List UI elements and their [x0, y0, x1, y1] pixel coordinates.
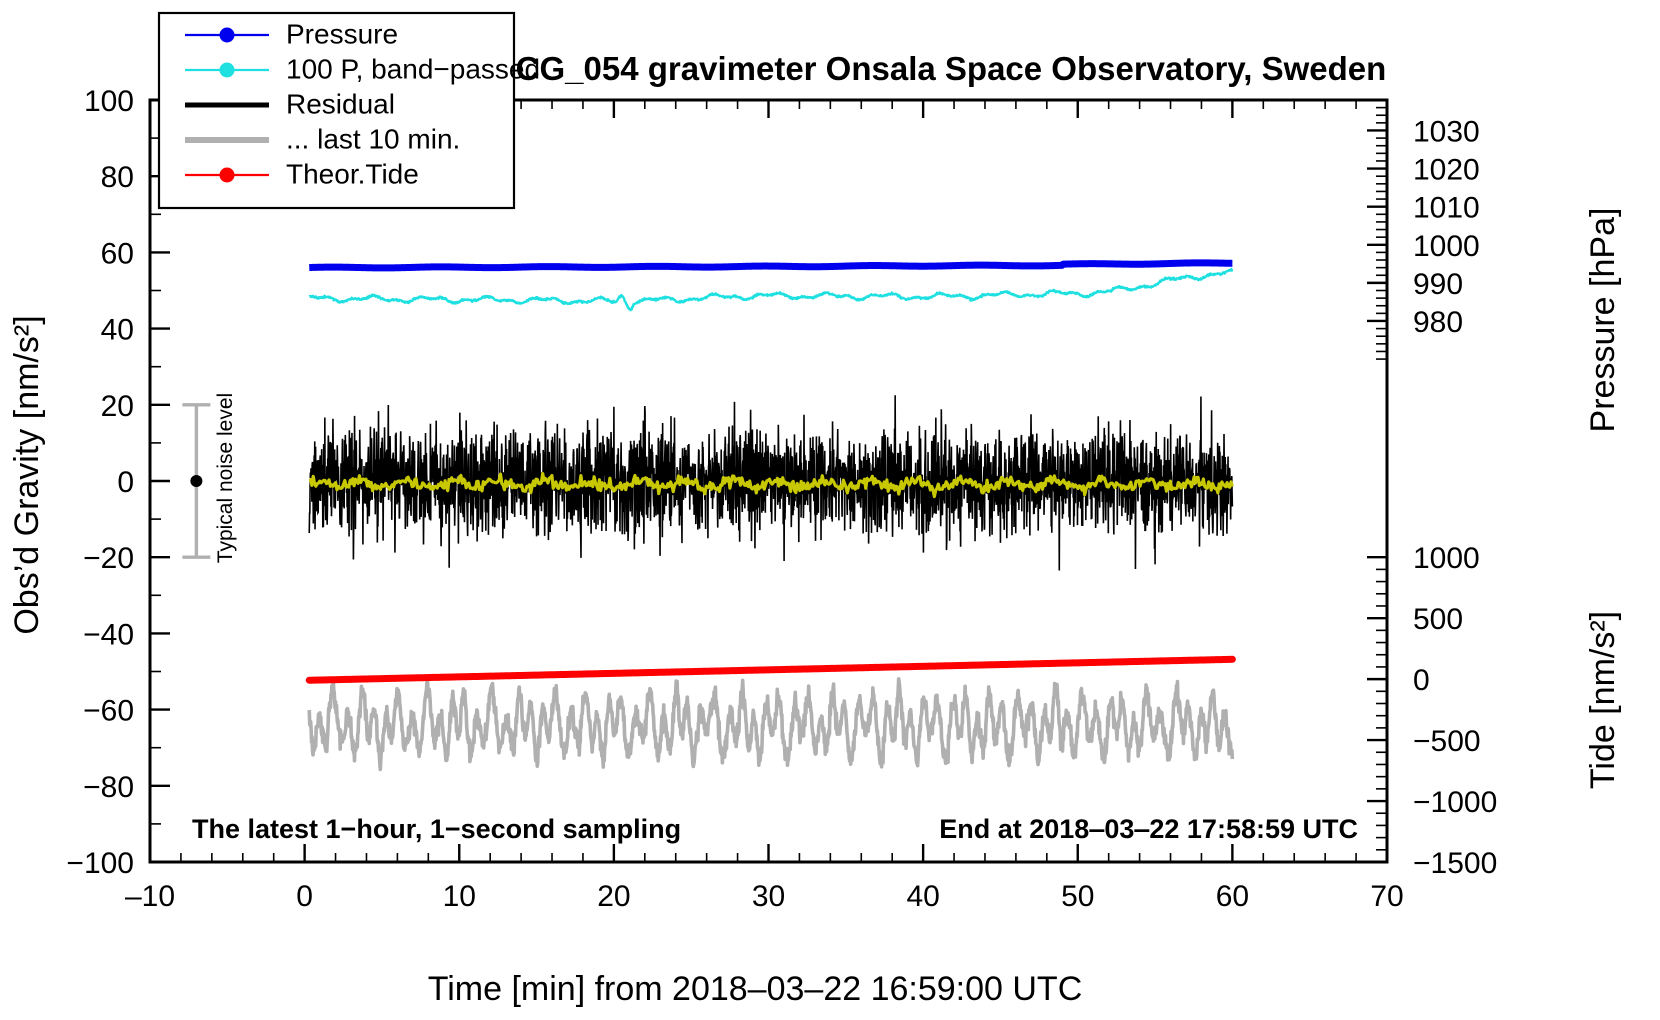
pressure-axis-title: Pressure [hPa]	[1584, 208, 1622, 433]
y-tick-label: −100	[66, 847, 134, 880]
chart-legend[interactable]: Pressure100 P, band−passedResidual... la…	[159, 13, 540, 208]
y-tick-label: 40	[101, 314, 134, 347]
x-tick-label: 20	[597, 880, 630, 913]
gravimeter-chart: ‒10010203040506070−100−80−60−40−20020406…	[0, 0, 1660, 1020]
legend-label-2[interactable]: Residual	[286, 88, 395, 119]
pressure-tick-label: 1030	[1413, 115, 1480, 148]
noise-level-label: Typical noise level	[214, 393, 237, 563]
x-axis-title: Time [min] from 2018‒03‒22 16:59:00 UTC	[428, 970, 1083, 1008]
x-tick-label: 30	[752, 880, 785, 913]
y-tick-label: 60	[101, 237, 134, 270]
legend-label-4[interactable]: Theor.Tide	[286, 158, 419, 189]
legend-marker-4	[220, 168, 235, 183]
y-tick-label: 80	[101, 161, 134, 194]
noise-bar-center-dot	[190, 475, 202, 487]
tide-tick-label: −1500	[1413, 847, 1497, 880]
tide-tick-label: 1000	[1413, 542, 1480, 575]
y-tick-label: −40	[83, 618, 134, 651]
tide-tick-label: 0	[1413, 664, 1430, 697]
x-tick-label: 70	[1370, 880, 1403, 913]
x-tick-label: 50	[1061, 880, 1094, 913]
y-tick-label: 100	[84, 85, 134, 118]
x-tick-label: 60	[1216, 880, 1249, 913]
pressure-tick-label: 1010	[1413, 192, 1480, 225]
legend-label-0[interactable]: Pressure	[286, 18, 398, 49]
x-tick-label: ‒10	[125, 880, 175, 913]
tide-tick-label: −1000	[1413, 786, 1497, 819]
tide-tick-label: −500	[1413, 725, 1481, 758]
chart-canvas: ‒10010203040506070−100−80−60−40−20020406…	[0, 0, 1660, 1020]
y-tick-label: −20	[83, 542, 134, 575]
tide-tick-label: 500	[1413, 603, 1463, 636]
x-tick-label: 10	[443, 880, 476, 913]
legend-label-1[interactable]: 100 P, band−passed	[286, 53, 540, 84]
y-tick-label: −80	[83, 771, 134, 804]
legend-marker-1	[220, 63, 235, 78]
y-tick-label: 0	[117, 466, 134, 499]
series-pressure	[309, 263, 1232, 268]
tide-axis-title: Tide [nm/s²]	[1584, 611, 1622, 789]
pressure-tick-label: 1020	[1413, 154, 1480, 187]
x-tick-label: 0	[296, 880, 313, 913]
annotation-bottom-right: End at 2018‒03‒22 17:58:59 UTC	[939, 814, 1358, 844]
pressure-tick-label: 990	[1413, 268, 1463, 301]
y-axis-title: Obs’d Gravity [nm/s²]	[8, 315, 46, 634]
pressure-tick-label: 980	[1413, 306, 1463, 339]
chart-title: SCG_054 gravimeter Onsala Space Observat…	[494, 50, 1387, 87]
y-tick-label: 20	[101, 390, 134, 423]
legend-label-3[interactable]: ... last 10 min.	[286, 123, 460, 154]
x-tick-label: 40	[906, 880, 939, 913]
pressure-tick-label: 1000	[1413, 230, 1480, 263]
y-tick-label: −60	[83, 695, 134, 728]
annotation-bottom-left: The latest 1−hour, 1−second sampling	[192, 814, 681, 844]
legend-marker-0	[220, 28, 235, 43]
